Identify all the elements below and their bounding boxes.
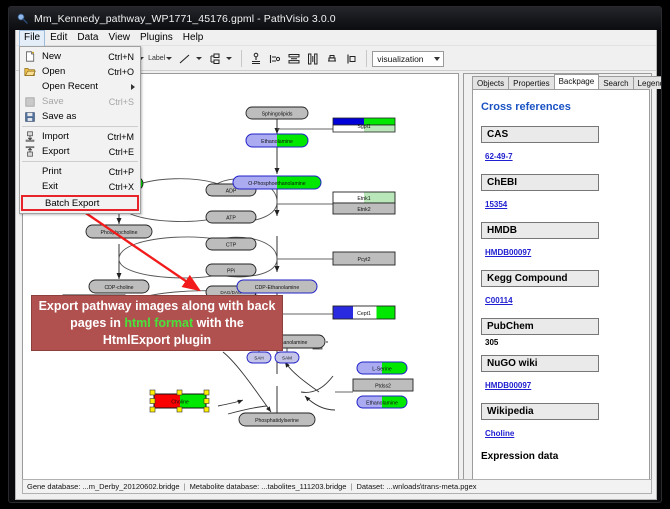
menu-item-batch-export-label: Batch Export <box>41 198 137 209</box>
node-ethanolamine-1[interactable]: Ethanolamine <box>246 134 308 147</box>
status-gene-database: Gene database: ...m_Derby_20120602.bridg… <box>27 482 180 491</box>
align-top-icon[interactable] <box>247 50 265 68</box>
node-etnk1[interactable]: Etnk1 <box>333 192 395 203</box>
blank-icon <box>25 197 41 210</box>
svg-text:CDP-choline: CDP-choline <box>104 285 133 291</box>
chevron-down-icon <box>434 57 440 61</box>
open-folder-icon <box>22 65 38 78</box>
menu-item-import[interactable]: Import Ctrl+M <box>20 129 140 144</box>
distribute-horizontal-icon[interactable] <box>304 50 322 68</box>
status-separator-1: | <box>184 482 186 491</box>
toolbar-divider-1 <box>241 50 242 67</box>
line-dropdown-icon[interactable] <box>196 57 202 60</box>
nugo-wiki-header: NuGO wiki <box>481 355 599 372</box>
menu-item-import-accel: Ctrl+M <box>107 132 140 142</box>
node-l-serine[interactable]: L-Serine <box>357 362 407 374</box>
label-dropdown-icon[interactable] <box>166 57 172 60</box>
screenshot-frame: Mm_Kennedy_pathway_WP1771_45176.gpml - P… <box>0 0 670 509</box>
svg-text:Phosphatidylserine: Phosphatidylserine <box>255 418 299 424</box>
menu-help[interactable]: Help <box>178 30 209 46</box>
visualization-value: visualization <box>377 54 423 64</box>
node-sgpl1[interactable]: Sgpl1 <box>333 118 395 132</box>
menu-item-open[interactable]: Open Ctrl+O <box>20 64 140 79</box>
svg-text:Ptdss2: Ptdss2 <box>375 384 391 390</box>
kegg-compound-link[interactable]: C00114 <box>481 296 513 305</box>
blank-icon <box>22 180 38 193</box>
node-ethanolamine-2[interactable]: Ethanolamine <box>357 396 407 408</box>
nugo-wiki-link[interactable]: HMDB00097 <box>481 381 531 390</box>
menu-item-save-as-label: Save as <box>38 111 134 122</box>
tab-legend[interactable]: Legend <box>633 76 662 89</box>
menu-item-print-accel: Ctrl+P <box>109 167 140 177</box>
menu-item-new-accel: Ctrl+N <box>108 52 140 62</box>
file-menu-dropdown[interactable]: New Ctrl+N Open Ctrl+O Open Recent <box>19 46 141 214</box>
window-titlebar: Mm_Kennedy_pathway_WP1771_45176.gpml - P… <box>9 7 662 30</box>
annotation-line3: HtmlExport plugin <box>103 333 211 347</box>
save-as-icon <box>22 110 38 123</box>
menu-item-new-label: New <box>38 51 108 62</box>
menu-item-batch-export[interactable]: Batch Export <box>21 195 139 211</box>
svg-text:PPi: PPi <box>227 269 235 275</box>
backpage-entry-chebi: ChEBI 15354 <box>481 174 641 217</box>
node-pcyt2[interactable]: Pcyt2 <box>333 252 395 265</box>
cross-references-title: Cross references <box>481 101 641 113</box>
hmdb-link[interactable]: HMDB00097 <box>481 248 531 257</box>
label-icon[interactable]: Label <box>148 55 165 62</box>
backpage-entry-kegg: Kegg Compound C00114 <box>481 270 641 313</box>
menu-item-export-accel: Ctrl+E <box>109 147 140 157</box>
node-phosphocholine[interactable]: Phosphocholine <box>86 225 152 238</box>
menu-data[interactable]: Data <box>72 30 103 46</box>
chevron-right-icon <box>131 84 135 90</box>
blank-icon <box>22 80 38 93</box>
annotation-line2-b: with the <box>193 316 244 330</box>
backpage-entry-nugo: NuGO wiki HMDB00097 <box>481 355 641 398</box>
cas-link[interactable]: 62-49-7 <box>481 152 513 161</box>
menu-divider-1 <box>22 126 138 127</box>
node-sah[interactable]: SAH <box>247 352 271 363</box>
window-title-text: Mm_Kennedy_pathway_WP1771_45176.gpml - P… <box>34 13 336 25</box>
line-tool-icon[interactable] <box>176 50 194 68</box>
menu-file[interactable]: File <box>19 30 45 46</box>
menu-item-exit-label: Exit <box>38 181 109 192</box>
svg-text:Etnk1: Etnk1 <box>357 196 370 202</box>
side-panel: Objects Properties Backpage Search Legen… <box>463 73 652 486</box>
svg-text:SAM: SAM <box>282 356 292 361</box>
status-bar: Gene database: ...m_Derby_20120602.bridg… <box>22 479 652 494</box>
chebi-link[interactable]: 15354 <box>481 200 507 209</box>
annotation-banner: Export pathway images along with back pa… <box>31 295 283 351</box>
node-cept1[interactable]: Cept1 <box>333 306 395 319</box>
menu-plugins[interactable]: Plugins <box>135 30 178 46</box>
import-icon <box>22 130 38 143</box>
backpage-entry-pubchem: PubChem 305 <box>481 318 641 347</box>
new-document-icon <box>22 50 38 63</box>
menu-item-export[interactable]: Export Ctrl+E <box>20 144 140 159</box>
annotation-highlight: html format <box>124 316 193 330</box>
visualization-combobox[interactable]: visualization <box>372 51 444 67</box>
menu-item-save-accel: Ctrl+S <box>109 97 140 107</box>
node-sphingolipids[interactable]: Sphingolipids <box>246 107 308 119</box>
tab-backpage[interactable]: Backpage <box>554 74 600 89</box>
client-area: File Edit Data View Plugins Help Zoom: 1… <box>15 30 657 500</box>
node-ppi[interactable]: PPi <box>206 264 256 276</box>
tab-search[interactable]: Search <box>598 76 633 89</box>
annotation-line1: Export pathway images along with back <box>39 299 276 313</box>
status-dataset: Dataset: ...wnloads\trans-meta.pgex <box>356 482 476 491</box>
blank-icon <box>22 165 38 178</box>
menu-item-exit-accel: Ctrl+X <box>109 182 140 192</box>
pubchem-header: PubChem <box>481 318 599 335</box>
backpage-entry-cas: CAS 62-49-7 <box>481 126 641 169</box>
kegg-compound-header: Kegg Compound <box>481 270 599 287</box>
cas-header: CAS <box>481 126 599 143</box>
svg-text:Sgpl1: Sgpl1 <box>357 124 370 130</box>
node-choline-selected[interactable]: Choline <box>150 390 209 412</box>
pathvisio-window: Mm_Kennedy_pathway_WP1771_45176.gpml - P… <box>8 6 662 503</box>
distribute-vertical-icon[interactable] <box>285 50 303 68</box>
menu-item-export-label: Export <box>38 146 109 157</box>
menu-item-open-recent[interactable]: Open Recent <box>20 79 140 94</box>
svg-text:CDP-Ethanolamine: CDP-Ethanolamine <box>255 285 300 291</box>
menu-divider-2 <box>22 161 138 162</box>
backpage-content[interactable]: Cross references CAS 62-49-7 ChEBI 15354… <box>472 89 650 485</box>
align-left-icon[interactable] <box>266 50 284 68</box>
node-etnk2[interactable]: Etnk2 <box>333 203 395 214</box>
menu-item-exit[interactable]: Exit Ctrl+X <box>20 179 140 194</box>
menu-item-print-label: Print <box>38 166 109 177</box>
pathvisio-icon <box>17 13 29 25</box>
menu-view[interactable]: View <box>103 30 135 46</box>
menu-item-save-as[interactable]: Save as <box>20 109 140 124</box>
menu-item-save: Save Ctrl+S <box>20 94 140 109</box>
node-phosphatidylserine[interactable]: Phosphatidylserine <box>239 413 315 426</box>
menu-item-save-label: Save <box>38 96 109 107</box>
toolbar-divider-2 <box>366 50 367 67</box>
svg-text:Sphingolipids: Sphingolipids <box>262 112 293 118</box>
node-cdp-choline[interactable]: CDP-choline <box>89 280 149 293</box>
chebi-header: ChEBI <box>481 174 599 191</box>
status-metabolite-database: Metabolite database: ...tabolites_111203… <box>190 482 347 491</box>
node-ptdss2[interactable]: Ptdss2 <box>353 379 413 391</box>
node-o-phosphoethanolamine[interactable]: O-Phosphoethanolamine <box>233 176 321 189</box>
same-height-icon[interactable] <box>342 50 360 68</box>
shape-tool-icon[interactable] <box>206 50 224 68</box>
svg-text:CTP: CTP <box>226 243 237 249</box>
shape-dropdown-icon[interactable] <box>226 57 232 60</box>
menu-edit[interactable]: Edit <box>45 30 72 46</box>
status-separator-2: | <box>350 482 352 491</box>
export-icon <box>22 145 38 158</box>
svg-text:Ethanolamine: Ethanolamine <box>261 139 293 145</box>
pubchem-value: 305 <box>481 338 641 347</box>
node-cdp-ethanolamine[interactable]: CDP-Ethanolamine <box>237 280 317 293</box>
side-panel-tabs: Objects Properties Backpage Search Legen… <box>464 74 651 89</box>
svg-text:ATP: ATP <box>226 216 236 222</box>
tab-objects[interactable]: Objects <box>472 76 509 89</box>
svg-text:L-Serine: L-Serine <box>372 367 392 373</box>
expression-data-header: Expression data <box>481 451 641 462</box>
svg-text:Ethanolamine: Ethanolamine <box>366 401 398 407</box>
same-width-icon[interactable] <box>323 50 341 68</box>
hmdb-header: HMDB <box>481 222 599 239</box>
menu-item-print[interactable]: Print Ctrl+P <box>20 164 140 179</box>
node-atp[interactable]: ATP <box>206 211 256 223</box>
menu-item-open-recent-label: Open Recent <box>38 81 140 92</box>
menu-bar: File Edit Data View Plugins Help <box>16 30 656 46</box>
svg-text:Etnk2: Etnk2 <box>357 207 370 213</box>
menu-item-open-accel: Ctrl+O <box>108 67 140 77</box>
backpage-entry-wikipedia: Wikipedia Choline <box>481 403 641 446</box>
svg-text:Pcyt2: Pcyt2 <box>358 257 371 263</box>
menu-item-new[interactable]: New Ctrl+N <box>20 49 140 64</box>
svg-text:Choline: Choline <box>171 400 189 406</box>
wikipedia-link[interactable]: Choline <box>481 429 514 438</box>
node-ctp[interactable]: CTP <box>206 238 256 250</box>
wikipedia-header: Wikipedia <box>481 403 599 420</box>
svg-text:ADP: ADP <box>226 189 237 195</box>
annotation-line2-a: pages in <box>70 316 124 330</box>
menu-item-import-label: Import <box>38 131 107 142</box>
svg-text:O-Phosphoethanolamine: O-Phosphoethanolamine <box>248 181 306 187</box>
svg-text:SAH: SAH <box>254 356 263 361</box>
node-sam[interactable]: SAM <box>275 352 299 363</box>
svg-text:Cept1: Cept1 <box>357 311 371 317</box>
tab-properties[interactable]: Properties <box>508 76 554 89</box>
save-icon <box>22 95 38 108</box>
svg-text:Phosphocholine: Phosphocholine <box>101 230 138 236</box>
backpage-entry-hmdb: HMDB HMDB00097 <box>481 222 641 265</box>
menu-item-open-label: Open <box>38 66 108 77</box>
